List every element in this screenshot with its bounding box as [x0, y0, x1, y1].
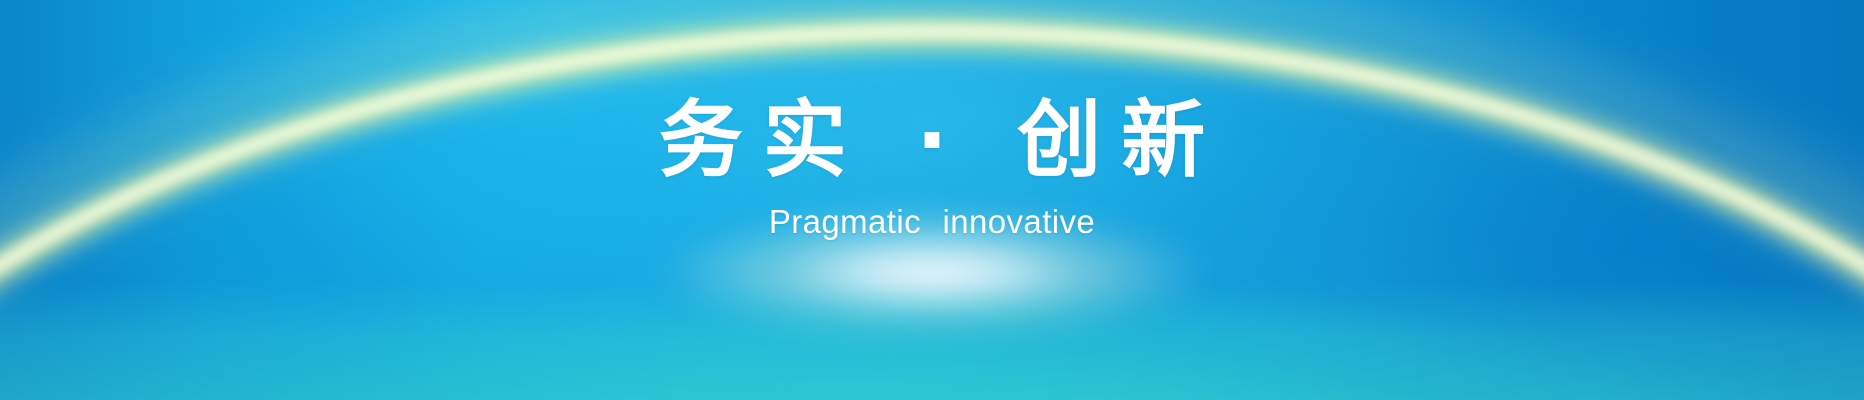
banner-headline: 务实 · 创新 — [639, 92, 1225, 188]
banner-content: 务实 · 创新 Pragmatic innovative — [0, 0, 1864, 400]
hero-banner: 务实 · 创新 Pragmatic innovative — [0, 0, 1864, 400]
banner-subline: Pragmatic innovative — [769, 202, 1095, 242]
